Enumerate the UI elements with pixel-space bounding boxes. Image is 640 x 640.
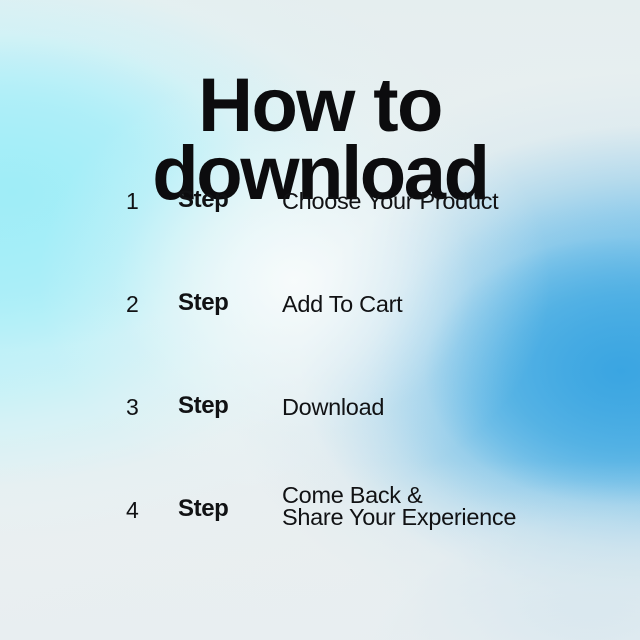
step-number: 2 [126, 289, 139, 319]
page-title-line-1: How to [0, 72, 640, 140]
step-word-label: Step [178, 494, 228, 524]
step-number: 3 [126, 392, 139, 422]
steps-list: 1 Step Choose Your Product 2 Step Add To… [0, 186, 640, 598]
poster-canvas: How todownload 1 Step Choose Your Produc… [0, 0, 640, 640]
step-word-label: Step [178, 391, 228, 421]
poster-content: How todownload 1 Step Choose Your Produc… [0, 0, 640, 640]
step-number: 4 [126, 495, 139, 525]
step-word-label: Step [178, 185, 228, 215]
step-row-2: 2 Step Add To Cart [0, 289, 640, 392]
step-description: Add To Cart [282, 289, 402, 319]
step-description: Come Back &Share Your Experience [282, 485, 516, 528]
step-row-1: 1 Step Choose Your Product [0, 186, 640, 289]
step-number: 1 [126, 186, 139, 216]
step-row-4: 4 Step Come Back &Share Your Experience [0, 495, 640, 598]
step-row-3: 3 Step Download [0, 392, 640, 495]
step-word-label: Step [178, 288, 228, 318]
step-description: Download [282, 392, 384, 422]
step-description: Choose Your Product [282, 186, 498, 216]
step-description-line-2: Share Your Experience [282, 507, 516, 529]
